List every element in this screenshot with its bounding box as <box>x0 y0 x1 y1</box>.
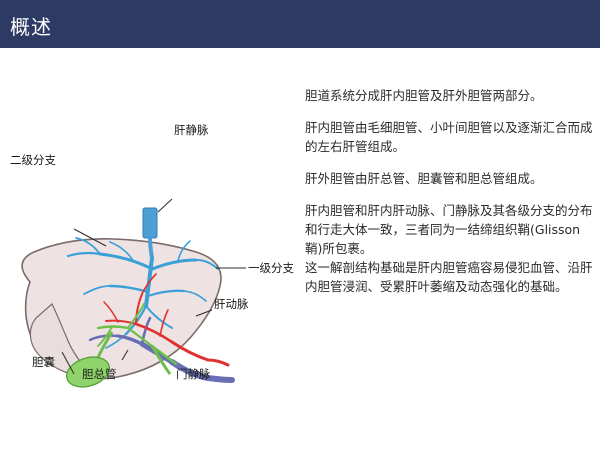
paragraph-4: 肝内胆管和肝内肝动脉、门静脉及其各级分支的分布和行走大体一致，三者同为一结缔组织… <box>305 201 597 258</box>
slide-root: 概述 <box>0 0 600 450</box>
portal-vein-trunk-end <box>208 378 232 380</box>
page-title: 概述 <box>10 11 52 40</box>
slide-header-bar <box>0 0 600 48</box>
leader-hepatic-vein <box>158 199 172 212</box>
label-common-bile-duct: 胆总管 <box>82 366 117 382</box>
hepatic-vein-marker <box>143 208 157 238</box>
body-text-column: 胆道系统分成肝内胆管及肝外胆管两部分。 肝内胆管由毛细胆管、小叶间胆管以及逐渐汇… <box>305 86 597 296</box>
paragraph-3: 肝外胆管由肝总管、胆囊管和胆总管组成。 <box>305 169 597 188</box>
paragraph-1: 胆道系统分成肝内胆管及肝外胆管两部分。 <box>305 86 597 105</box>
label-portal-vein: 门静脉 <box>176 366 211 382</box>
liver-biliary-diagram: 肝静脉 二级分支 一级分支 肝动脉 胆囊 胆总管 门静脉 <box>0 60 305 450</box>
diagram-svg <box>0 60 305 450</box>
label-primary-branch: 一级分支 <box>248 260 294 276</box>
label-gallbladder: 胆囊 <box>32 354 55 370</box>
hepatic-vein-marker-stem <box>150 238 152 258</box>
paragraph-2: 肝内胆管由毛细胆管、小叶间胆管以及逐渐汇合而成的左右肝管组成。 <box>305 118 597 156</box>
label-hepatic-vein: 肝静脉 <box>174 122 209 138</box>
label-secondary-branch: 二级分支 <box>10 152 56 168</box>
label-hepatic-artery: 肝动脉 <box>214 296 249 312</box>
paragraph-5: 这一解剖结构基础是肝内胆管癌容易侵犯血管、沿肝内胆管浸润、受累肝叶萎缩及动态强化… <box>305 258 597 296</box>
